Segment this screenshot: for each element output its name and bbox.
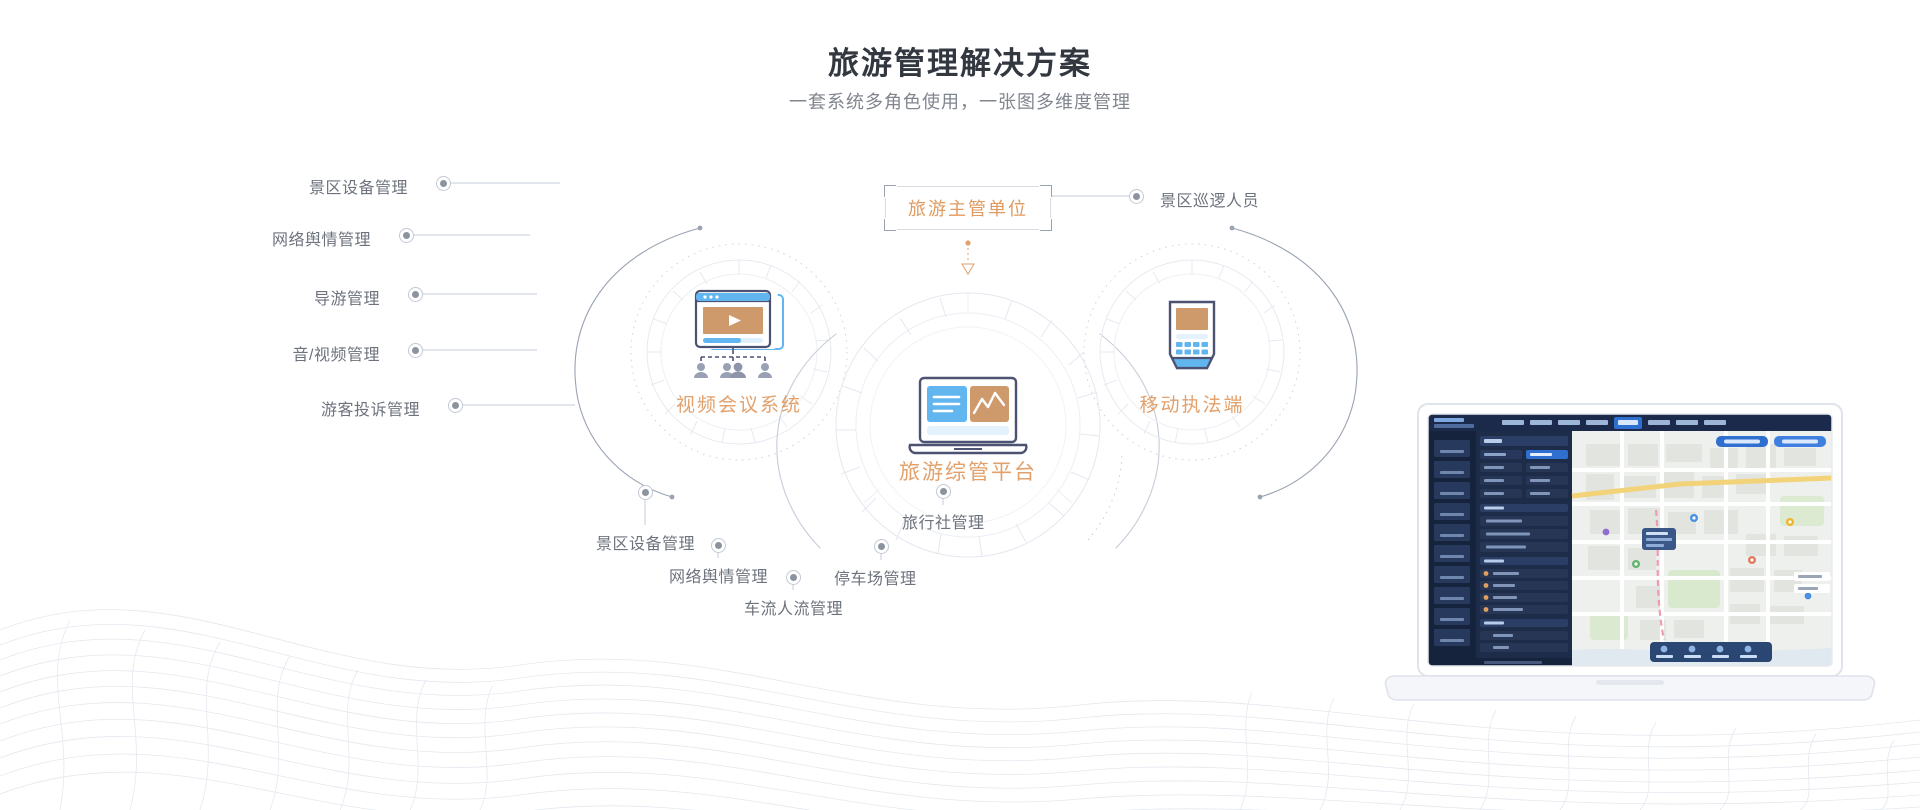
box-edge-top xyxy=(897,186,1039,187)
label-bottom-2[interactable]: 车流人流管理 xyxy=(744,595,843,619)
node-dot-bottom-3[interactable] xyxy=(874,539,889,554)
laptop-device-mockup xyxy=(1350,400,1910,725)
cluster-label-tourism-platform: 旅游综管平台 xyxy=(868,456,1068,486)
box-edge-left xyxy=(885,198,886,218)
node-dot-bottom-1[interactable] xyxy=(711,538,726,553)
label-bottom-1[interactable]: 网络舆情管理 xyxy=(669,563,768,587)
label-bottom-3[interactable]: 停车场管理 xyxy=(834,565,917,589)
node-dot-left-1[interactable] xyxy=(399,228,414,243)
node-dot-bottom-4[interactable] xyxy=(936,484,951,499)
node-dot-left-2[interactable] xyxy=(408,287,423,302)
node-dot-left-3[interactable] xyxy=(408,343,423,358)
label-left-0[interactable]: 景区设备管理 xyxy=(309,174,408,198)
authority-unit-label: 旅游主管单位 xyxy=(908,195,1028,221)
label-left-1[interactable]: 网络舆情管理 xyxy=(272,226,371,250)
node-dot-right-0[interactable] xyxy=(1129,189,1144,204)
cluster-label-mobile-enforcement: 移动执法端 xyxy=(1112,390,1272,417)
corner-top-left xyxy=(884,185,896,197)
box-edge-right xyxy=(1050,198,1051,218)
label-bottom-0[interactable]: 景区设备管理 xyxy=(596,530,695,554)
label-left-2[interactable]: 导游管理 xyxy=(314,285,380,309)
label-bottom-4[interactable]: 旅行社管理 xyxy=(902,509,985,533)
node-dot-left-4[interactable] xyxy=(448,398,463,413)
box-edge-bottom xyxy=(897,229,1039,230)
node-dot-bottom-2[interactable] xyxy=(786,570,801,585)
cluster-label-video-conference: 视频会议系统 xyxy=(639,390,839,417)
authority-unit-box[interactable]: 旅游主管单位 xyxy=(885,186,1051,230)
solution-diagram-page: 旅游管理解决方案 一套系统多角色使用，一张图多维度管理 xyxy=(0,0,1920,810)
corner-bottom-left xyxy=(884,219,896,231)
corner-bottom-right xyxy=(1040,219,1052,231)
corner-top-right xyxy=(1040,185,1052,197)
node-dot-left-0[interactable] xyxy=(436,176,451,191)
handheld-terminal-icon[interactable] xyxy=(1162,298,1222,387)
node-dot-bottom-0[interactable] xyxy=(638,485,653,500)
label-right-0[interactable]: 景区巡逻人员 xyxy=(1160,187,1259,211)
label-left-4[interactable]: 游客投诉管理 xyxy=(321,396,420,420)
label-left-3[interactable]: 音/视频管理 xyxy=(293,341,380,365)
video-conference-icon[interactable] xyxy=(679,289,799,384)
